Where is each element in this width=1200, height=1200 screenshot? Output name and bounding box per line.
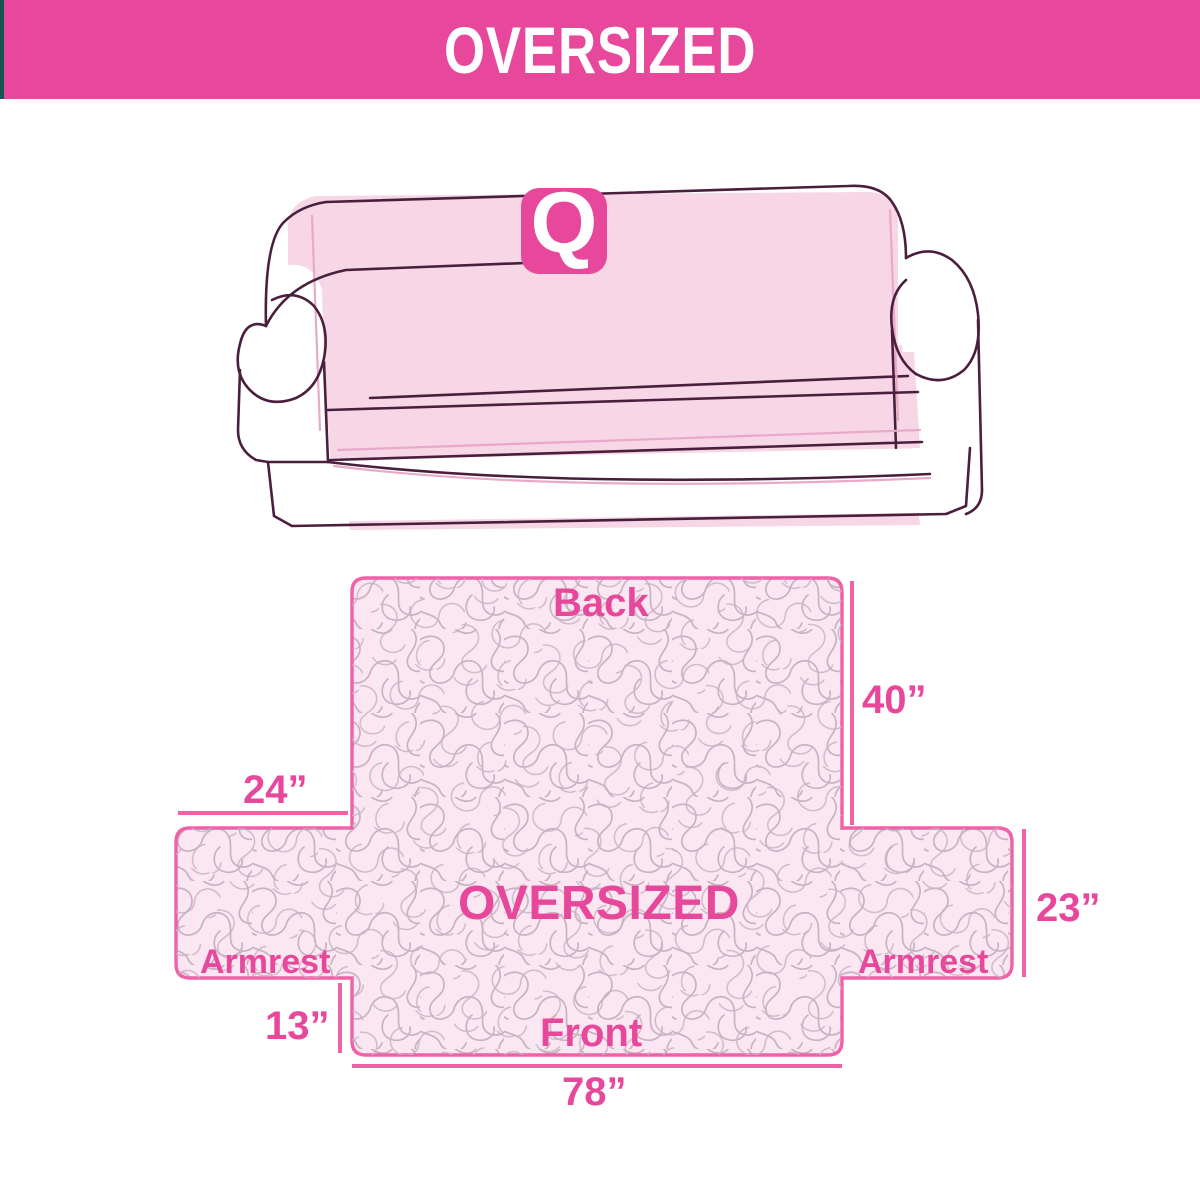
panel-label-armrest-left: Armrest [200, 945, 330, 979]
page-title: OVERSIZED [444, 17, 756, 83]
banner-left-edge-accent [0, 0, 4, 99]
header-banner: OVERSIZED [0, 0, 1200, 99]
svg-text:Q: Q [531, 175, 598, 271]
dimension-total-width: 78” [562, 1072, 627, 1112]
panel-label-armrest-right: Armrest [858, 945, 988, 979]
panel-label-front: Front [540, 1013, 642, 1053]
slipcover-dimension-diagram: .shape{fill:url(#quilt); stroke:#ef62a8;… [0, 545, 1200, 1145]
brand-logo-badge: Q [521, 175, 607, 274]
sofa-illustration: .ln{fill:none;stroke:#4a1f3d;stroke-widt… [230, 130, 990, 530]
dimension-armrest-width: 24” [243, 770, 308, 810]
dimension-front-flap: 13” [265, 1006, 330, 1046]
panel-label-back: Back [553, 583, 649, 623]
dimension-back-height: 40” [862, 680, 927, 720]
infographic-page: OVERSIZED .ln{fill:none;stroke:#4a1f3d;s… [0, 0, 1200, 1200]
diagram-center-label: OVERSIZED [458, 880, 740, 928]
dimension-armrest-height: 23” [1036, 888, 1101, 928]
